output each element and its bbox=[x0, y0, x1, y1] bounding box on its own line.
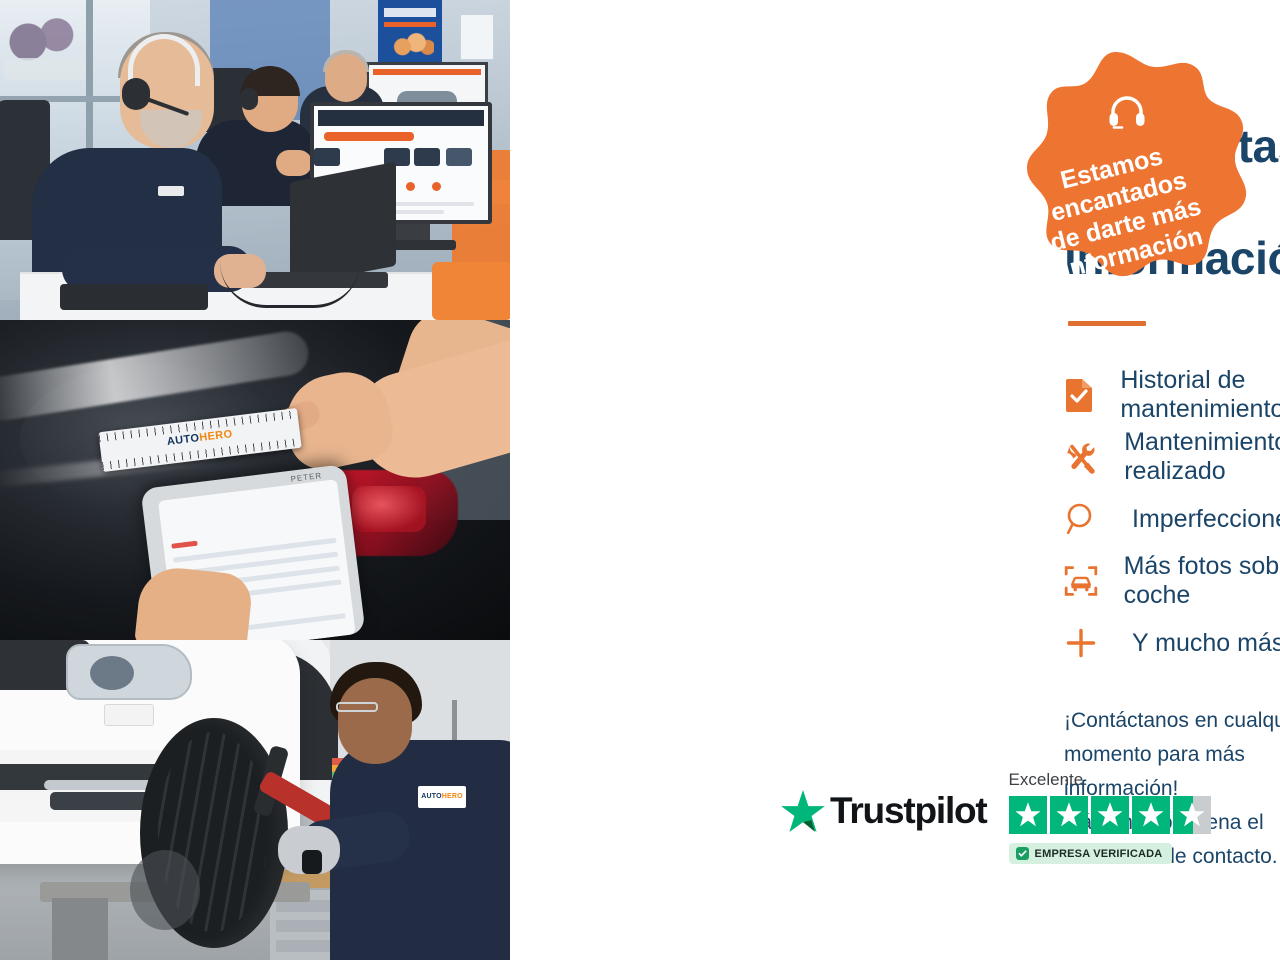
call-center-agents-photo bbox=[0, 0, 510, 320]
license-plate-area bbox=[104, 704, 154, 726]
photo-column: AUTOHERO PETER bbox=[0, 0, 510, 960]
mechanic-head bbox=[338, 678, 412, 764]
mechanic-tire-photo: AUTOHERO bbox=[0, 640, 510, 960]
wheel-rim bbox=[130, 850, 200, 930]
rating-label: Excelente bbox=[1009, 770, 1211, 790]
desk-tablet bbox=[60, 284, 208, 310]
star-rating bbox=[1009, 796, 1211, 834]
trustpilot-rating: Excelente EMPRESA VERIFICADA bbox=[1009, 770, 1211, 865]
verified-label: EMPRESA VERIFICADA bbox=[1035, 848, 1163, 860]
agent-1-polo-logo bbox=[158, 186, 184, 196]
trustpilot-wordmark: Trustpilot bbox=[830, 790, 987, 832]
feature-item-imperfections: Imperfecciones bbox=[1064, 488, 1280, 550]
star-tile-5 bbox=[1173, 796, 1211, 834]
feature-label: Mantenimiento realizado bbox=[1124, 428, 1280, 486]
feature-item-maintenance-done: Mantenimiento realizado bbox=[1064, 426, 1280, 488]
feature-item-more-photos: Más fotos sobre el coche bbox=[1064, 550, 1280, 612]
trustpilot-widget[interactable]: Trustpilot Excelente EMPRESA VERIFICADA bbox=[781, 770, 1211, 865]
feature-label: Imperfecciones bbox=[1132, 505, 1280, 534]
orange-chair-seat bbox=[432, 262, 510, 320]
feature-item-much-more: Y mucho más bbox=[1064, 612, 1280, 674]
star-tile-1 bbox=[1009, 796, 1047, 834]
verified-company-badge: EMPRESA VERIFICADA bbox=[1009, 843, 1173, 864]
agent-1-headset-cup bbox=[122, 78, 150, 110]
trustpilot-logo[interactable]: Trustpilot bbox=[781, 790, 987, 832]
tail-light-highlight bbox=[352, 486, 426, 532]
car-lift-post bbox=[52, 898, 108, 960]
magnifier-icon bbox=[1064, 502, 1110, 536]
feature-label: Historial de mantenimientos bbox=[1120, 366, 1280, 424]
uniform-brand-hero: HERO bbox=[442, 793, 463, 800]
document-check-icon bbox=[1064, 378, 1098, 412]
star-tile-4 bbox=[1132, 796, 1170, 834]
agent-2-headset bbox=[240, 88, 258, 110]
ruler-brand-auto: AUTO bbox=[166, 432, 200, 448]
trustpilot-star-icon bbox=[781, 790, 825, 832]
wrench-screwdriver-icon bbox=[1064, 440, 1102, 474]
wall-flyer bbox=[460, 14, 494, 60]
feature-label: Y mucho más bbox=[1132, 629, 1280, 658]
car-frame-icon bbox=[1064, 564, 1102, 598]
car-inspection-ruler-photo: AUTOHERO PETER bbox=[0, 320, 510, 640]
star-tile-2 bbox=[1050, 796, 1088, 834]
poster-people bbox=[392, 30, 434, 58]
star-tile-3 bbox=[1091, 796, 1129, 834]
uniform-brand-auto: AUTO bbox=[421, 793, 442, 800]
agent-2-hand bbox=[276, 150, 312, 176]
parking-lot-outside bbox=[4, 58, 86, 80]
mechanic-uniform-badge: AUTOHERO bbox=[418, 786, 466, 808]
car-headlight bbox=[66, 644, 192, 700]
autohero-info-panel: AUTOHERO PETER bbox=[0, 0, 1280, 960]
plus-icon bbox=[1064, 626, 1110, 660]
agent-3-head bbox=[325, 54, 367, 102]
feature-label: Más fotos sobre el coche bbox=[1124, 552, 1280, 610]
mechanic-glasses bbox=[336, 702, 378, 712]
verified-check-icon bbox=[1016, 847, 1029, 860]
feature-list: Historial de mantenimientos Mantenimient… bbox=[1064, 364, 1280, 674]
ruler-brand-hero: HERO bbox=[199, 428, 234, 444]
support-badge: Estamos encantados de darte más informac… bbox=[985, 48, 1247, 324]
feature-item-maintenance-history: Historial de mantenimientos bbox=[1064, 364, 1280, 426]
mechanic-watch bbox=[302, 850, 322, 874]
